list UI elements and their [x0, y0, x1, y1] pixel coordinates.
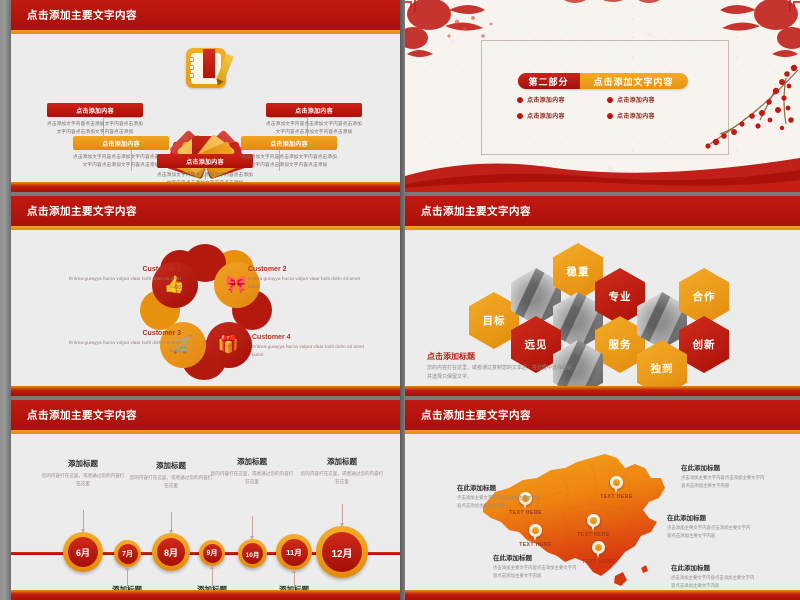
timeline-month: 12月 [331, 545, 352, 560]
map-pin[interactable]: TEXT HERE [592, 541, 605, 558]
map-caption-title: 在此添加标题 [493, 552, 577, 562]
pin-label: TEXT HERE [582, 559, 615, 565]
fan-callout[interactable]: 点击添加内容 点击添加文字内容点击添加文字内容点击添加文字内容点击添加文字内容点… [266, 103, 362, 135]
pin-label: TEXT HERE [577, 532, 610, 538]
bullet-dot-icon [607, 97, 613, 103]
timeline-body: 您的内容打在这里，或者通过您的内容打在这里 [299, 470, 385, 487]
customer-body: Eritrea gurayya hucra volput vlaar bolti… [69, 340, 181, 356]
slide-body: 6月 添加标题 您的内容打在这里，或者通过您的内容打在这里 7月 添加标题 您的… [11, 434, 400, 600]
bullet-dot-icon [517, 113, 523, 119]
hex-caption-title: 点击添加标题 [427, 351, 577, 362]
fan-callout-body: 点击添加文字内容点击添加文字内容点击添加文字内容点击添加文字内容点击添加 [47, 120, 143, 135]
timeline-node[interactable]: 12月 [316, 526, 368, 578]
timeline-arrow [83, 510, 84, 530]
clipboard-pencil-icon [186, 48, 226, 88]
slide-body: TEXT HERE TEXT HERE TEXT HERE TEXT HERE … [405, 434, 800, 600]
map-caption: 在此添加标题 点击添加主要文字内容点击添加主要文字内容点击添加主要文字内容 [457, 482, 541, 509]
customer-body: Eritrea gurayya hucra volput vlaar bolti… [248, 276, 360, 292]
timeline-node[interactable]: 9月 [199, 540, 225, 566]
slide-timeline[interactable]: 点击添加主要文字内容 6月 添加标题 您的内容打在这里，或者通过您的内容打在这里… [11, 400, 400, 600]
timeline-month: 8月 [164, 546, 178, 559]
timeline-title: 添加标题 [128, 460, 214, 471]
timeline-body: 您的内容打在这里，或者通过您的内容打在这里 [40, 472, 126, 489]
slide-hexagon-grid[interactable]: 点击添加主要文字内容 目标 稳重 专业 服务 合作 创新 远见 独到 点击添加标… [405, 196, 800, 396]
slide-header: 点击添加主要文字内容 [405, 400, 800, 430]
map-caption-title: 在此添加标题 [681, 462, 765, 472]
timeline-arrow [171, 512, 172, 531]
customer-caption: Customer 3 Eritrea gurayya hucra volput … [69, 330, 181, 356]
timeline-caption: 添加标题 您的内容打在这里，或者通过您的内容打在这里 [40, 458, 126, 489]
timeline-node[interactable]: 8月 [152, 533, 190, 571]
slide-title: 点击添加主要文字内容 [421, 408, 531, 423]
hex-label: 专业 [609, 289, 632, 304]
customer-caption: Customer 2 Eritrea gurayya hucra volput … [248, 266, 360, 292]
timeline-node[interactable]: 11月 [276, 534, 312, 570]
gift-icon: 🎁 [218, 335, 239, 355]
timeline-title: 添加标题 [209, 456, 295, 467]
slide-footer-bar [11, 386, 400, 396]
lantern-icon [555, 0, 665, 14]
slide-footer-bar [11, 590, 400, 600]
map-caption: 在此添加标题 点击添加主要文字内容点击添加主要文字内容点击添加主要文字内容 [671, 562, 755, 589]
ribbon-icon: 🎀 [226, 275, 247, 295]
slide-footer-bar [11, 182, 400, 192]
slide-body: 目标 稳重 专业 服务 合作 创新 远见 独到 点击添加标题 您的内容打在这里，… [405, 230, 800, 396]
red-silk-wave [405, 150, 800, 192]
map-caption-body: 点击添加主要文字内容点击添加主要文字内容点击添加主要文字内容 [671, 574, 755, 589]
slide-deck-preview: 点击添加主要文字内容 [0, 0, 800, 600]
slide-section-cover[interactable]: 第二部分 点击添加文字内容 点击添加内容 点击添加内容 点击添加内容 点击添加内… [405, 0, 800, 192]
map-pin[interactable]: TEXT HERE [587, 514, 600, 531]
fan-callout-title: 点击添加内容 [157, 154, 253, 168]
bullet-item[interactable]: 点击添加内容 [607, 95, 697, 104]
left-gutter [0, 0, 11, 600]
slide-header: 点击添加主要文字内容 [11, 196, 400, 226]
pin-label: TEXT HERE [600, 494, 633, 500]
hex-label: 稳重 [567, 264, 590, 279]
customer-body: Eritrea gurayya hucra volput vlaar bolti… [252, 344, 364, 360]
timeline-title: 添加标题 [40, 458, 126, 469]
timeline-node[interactable]: 6月 [63, 532, 103, 572]
timeline-month: 9月 [207, 548, 218, 558]
timeline-node[interactable]: 10月 [238, 539, 267, 568]
section-title: 点击添加文字内容 [580, 73, 688, 89]
customer-title: Customer 4 [252, 334, 364, 341]
slide-title: 点击添加主要文字内容 [421, 204, 531, 219]
bullet-label: 点击添加内容 [527, 95, 565, 104]
timeline-month: 6月 [76, 546, 90, 559]
map-caption-title: 在此添加标题 [671, 562, 755, 572]
timeline-node[interactable]: 7月 [114, 540, 141, 567]
slide-customer-circles[interactable]: 点击添加主要文字内容 👍 🎀 🛒 [11, 196, 400, 396]
map-caption-title: 在此添加标题 [457, 482, 541, 492]
customer-title: Customer 3 [69, 330, 181, 337]
timeline-caption: 添加标题 您的内容打在这里，或者通过您的内容打在这里 [299, 456, 385, 487]
fan-callout-title: 点击添加内容 [241, 136, 337, 150]
timeline-body: 您的内容打在这里，或者通过您的内容打在这里 [128, 474, 214, 491]
timeline-arrow [342, 504, 343, 524]
hex-caption-body: 您的内容打在这里，或者通过复制您的文本后，在此框中选择粘贴，并选择只保留文字。 [427, 364, 577, 382]
bullet-item[interactable]: 点击添加内容 [607, 111, 697, 120]
map-pin[interactable]: TEXT HERE [610, 476, 623, 493]
customer-caption: Customer 1 Eritrea gurayya hucra volput … [69, 266, 181, 292]
slide-body: 点击添加内容 点击添加文字内容点击添加文字内容点击添加文字内容点击添加文字内容点… [11, 34, 400, 192]
map-caption-body: 点击添加主要文字内容点击添加主要文字内容点击添加主要文字内容 [681, 474, 765, 489]
hex-label: 服务 [609, 337, 632, 352]
fan-callout-title: 点击添加内容 [73, 136, 169, 150]
slide-header: 点击添加主要文字内容 [11, 400, 400, 430]
slide-body: 👍 🎀 🛒 🎁 Customer 1 Eritrea gurayya hucra… [11, 230, 400, 396]
customer-body: Eritrea gurayya hucra volput vlaar bolti… [69, 276, 181, 292]
bullet-label: 点击添加内容 [617, 111, 655, 120]
section-pill[interactable]: 第二部分 点击添加文字内容 [517, 73, 687, 89]
hex-label: 创新 [693, 337, 716, 352]
map-caption: 在此添加标题 点击添加主要文字内容点击添加主要文字内容点击添加主要文字内容 [681, 462, 765, 489]
map-caption-body: 点击添加主要文字内容点击添加主要文字内容点击添加主要文字内容 [667, 524, 751, 539]
slide-footer-bar [405, 590, 800, 600]
fan-callout-body: 点击添加文字内容点击添加文字内容点击添加文字内容点击添加文字内容点击添加 [241, 153, 337, 168]
map-caption-body: 点击添加主要文字内容点击添加主要文字内容点击添加主要文字内容 [457, 494, 541, 509]
map-caption: 在此添加标题 点击添加主要文字内容点击添加主要文字内容点击添加主要文字内容 [493, 552, 577, 579]
fan-callout-body: 点击添加文字内容点击添加文字内容点击添加文字内容点击添加文字内容点击添加 [73, 153, 169, 168]
timeline-month: 7月 [122, 549, 133, 559]
slide-header: 点击添加主要文字内容 [405, 196, 800, 226]
pin-label: TEXT HERE [519, 542, 552, 548]
timeline-arrow [252, 516, 253, 537]
fan-callout-title: 点击添加内容 [47, 103, 143, 117]
slide-title: 点击添加主要文字内容 [27, 204, 137, 219]
slide-header: 点击添加主要文字内容 [11, 0, 400, 30]
customer-circle-4[interactable]: 🎁 [206, 322, 252, 368]
bullet-dot-icon [607, 113, 613, 119]
hex-label: 合作 [693, 289, 716, 304]
bullet-item[interactable]: 点击添加内容 [517, 111, 607, 120]
hexagon-caption: 点击添加标题 您的内容打在这里，或者通过复制您的文本后，在此框中选择粘贴，并选择… [427, 351, 577, 383]
customer-title: Customer 2 [248, 266, 360, 273]
timeline-title: 添加标题 [299, 456, 385, 467]
timeline-caption: 添加标题 您的内容打在这里，或者通过您的内容打在这里 [209, 456, 295, 487]
slide-footer-bar [405, 386, 800, 396]
bullet-label: 点击添加内容 [617, 95, 655, 104]
map-caption: 在此添加标题 点击添加主要文字内容点击添加主要文字内容点击添加主要文字内容 [667, 512, 751, 539]
timeline-month: 10月 [246, 549, 260, 559]
fan-callout[interactable]: 点击添加内容 点击添加文字内容点击添加文字内容点击添加文字内容点击添加文字内容点… [241, 136, 337, 168]
timeline-body: 您的内容打在这里，或者通过您的内容打在这里 [209, 470, 295, 487]
slide-china-map[interactable]: 点击添加主要文字内容 [405, 400, 800, 600]
customer-caption: Customer 4 Eritrea gurayya hucra volput … [252, 334, 364, 360]
fan-callout-title: 点击添加内容 [266, 103, 362, 117]
timeline-month: 11月 [286, 547, 301, 558]
map-caption-title: 在此添加标题 [667, 512, 751, 522]
bullet-dot-icon [517, 97, 523, 103]
customer-title: Customer 1 [69, 266, 181, 273]
fan-callout[interactable]: 点击添加内容 点击添加文字内容点击添加文字内容点击添加文字内容点击添加文字内容点… [47, 103, 143, 135]
bullet-list: 点击添加内容 点击添加内容 点击添加内容 点击添加内容 [517, 95, 697, 127]
bullet-label: 点击添加内容 [527, 111, 565, 120]
fan-callout-body: 点击添加文字内容点击添加文字内容点击添加文字内容点击添加文字内容点击添加 [266, 120, 362, 135]
timeline-caption: 添加标题 您的内容打在这里，或者通过您的内容打在这里 [128, 460, 214, 491]
hex-label: 独到 [651, 361, 674, 376]
pin-label: TEXT HERE [509, 510, 542, 516]
bullet-item[interactable]: 点击添加内容 [517, 95, 607, 104]
slide-fan-diagram[interactable]: 点击添加主要文字内容 [11, 0, 400, 192]
map-pin[interactable]: TEXT HERE [529, 524, 542, 541]
hex-label: 目标 [483, 313, 506, 328]
slide-title: 点击添加主要文字内容 [27, 408, 137, 423]
section-tag: 第二部分 [517, 73, 579, 89]
fan-callout[interactable]: 点击添加内容 点击添加文字内容点击添加文字内容点击添加文字内容点击添加文字内容点… [73, 136, 169, 168]
map-caption-body: 点击添加主要文字内容点击添加主要文字内容点击添加主要文字内容 [493, 564, 577, 579]
slide-title: 点击添加主要文字内容 [27, 8, 137, 23]
